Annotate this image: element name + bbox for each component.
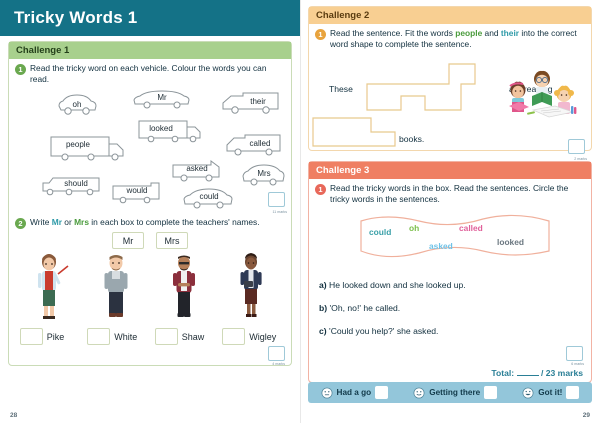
checkbox-getting-there[interactable] (484, 386, 497, 399)
challenge-1-question-1: 1 Read the tricky word on each vehicle. … (9, 59, 291, 85)
teacher-figure-shaw (155, 250, 213, 327)
sentence-a: a) He looked down and she looked up. (309, 280, 591, 290)
option-box-mrs[interactable]: Mrs (156, 232, 188, 249)
worksheet-spread: Tricky Words 1 Challenge 1 1 Read the tr… (0, 0, 600, 423)
answer-box-white[interactable] (87, 328, 110, 345)
page-number-right: 29 (583, 412, 590, 419)
vehicle-mrs[interactable]: Mrs (239, 163, 289, 189)
sentence-c: c) 'Could you help?' she asked. (309, 326, 591, 336)
marks-box-c2[interactable] (568, 139, 585, 154)
c2-word-people: people (455, 28, 482, 38)
sentence-a-text[interactable]: He looked down and she looked up. (329, 280, 466, 290)
total-label: Total: (491, 368, 514, 378)
teacher-figure-wigley (222, 250, 280, 327)
vehicle-called[interactable]: called (225, 133, 283, 159)
question-1-text: Read the tricky word on each vehicle. Co… (30, 63, 285, 85)
sentence-c-text[interactable]: 'Could you help?' she asked. (329, 326, 438, 336)
challenge-3-card: Challenge 3 1 Read the tricky words in t… (308, 161, 592, 383)
answer-box-shaw[interactable] (155, 328, 178, 345)
word-bank-could: could (369, 227, 391, 237)
c2-word-their: their (501, 28, 519, 38)
question-number-badge: 1 (315, 184, 326, 195)
self-assessment-had-a-go[interactable]: Had a go (321, 386, 389, 399)
page-title: Tricky Words 1 (14, 8, 137, 28)
teacher-name-pike: Pike (47, 332, 65, 342)
sentence-b: b) 'Oh, no!' he called. (309, 303, 591, 313)
checkbox-had-a-go[interactable] (375, 386, 388, 399)
vehicle-people[interactable]: people (49, 135, 127, 163)
marks-caption-q2: 4 marks (272, 362, 285, 366)
challenge-1-card: Challenge 1 1 Read the tricky word on ea… (8, 41, 292, 366)
happy-face-icon (522, 387, 534, 399)
word-shape-their[interactable] (311, 110, 431, 150)
foot-label-getting-there: Getting there (429, 388, 480, 397)
vehicle-would[interactable]: would (111, 181, 163, 207)
neutral-face-icon (321, 387, 333, 399)
teacher-name-wigley: Wigley (249, 332, 276, 342)
vehicle-mr[interactable]: Mr (131, 89, 193, 111)
sentence-b-text[interactable]: 'Oh, no!' he called. (330, 303, 401, 313)
challenge-1-band: Challenge 1 (9, 42, 291, 59)
right-page: Challenge 2 1 Read the sentence. Fit the… (300, 0, 600, 423)
children-reading-illustration (503, 66, 581, 129)
sentence-word-these: These (329, 84, 353, 94)
q2-word-mrs: Mrs (74, 217, 89, 227)
foot-label-had-a-go: Had a go (337, 388, 372, 397)
teacher-name-cell-shaw: Shaw (155, 328, 213, 345)
vehicle-word-area: oh Mr (11, 87, 289, 205)
challenge-2-question-text: Read the sentence. Fit the words people … (330, 28, 585, 50)
page-number-left: 28 (10, 412, 17, 419)
answer-box-pike[interactable] (20, 328, 43, 345)
checkbox-got-it[interactable] (566, 386, 579, 399)
challenge-2-band: Challenge 2 (309, 7, 591, 24)
teacher-name-cell-white: White (87, 328, 145, 345)
teacher-figure-white (87, 250, 145, 327)
word-bank-looked: looked (497, 237, 524, 247)
sentence-c-label: c) (319, 326, 327, 336)
teacher-illustrations (9, 250, 291, 327)
vehicle-asked[interactable]: asked (171, 159, 223, 185)
c2-text-part2: and (482, 28, 501, 38)
total-blank[interactable] (517, 375, 539, 376)
total-suffix: / 23 marks (541, 368, 583, 378)
sentence-b-label: b) (319, 303, 327, 313)
vehicle-could[interactable]: could (181, 187, 237, 213)
q2-text-part3: in each box to complete the teachers' na… (89, 217, 260, 227)
answer-box-wigley[interactable] (222, 328, 245, 345)
challenge-2-question-1: 1 Read the sentence. Fit the words peopl… (309, 24, 591, 50)
challenge-1-question-2: 2 Write Mr or Mrs in each box to complet… (9, 213, 291, 229)
sentence-word-books: books. (399, 134, 424, 144)
page-title-bar: Tricky Words 1 (0, 0, 300, 36)
question-number-badge: 2 (15, 218, 26, 229)
foot-label-got-it: Got it! (538, 388, 562, 397)
option-box-mr[interactable]: Mr (112, 232, 144, 249)
teacher-name-white: White (114, 332, 137, 342)
page-gutter (300, 0, 301, 423)
question-number-badge: 1 (15, 64, 26, 75)
word-shape-area: These are reading books. (309, 52, 591, 150)
vehicle-oh[interactable]: oh (53, 93, 101, 117)
challenge-3-question-1: 1 Read the tricky words in the box. Read… (309, 179, 591, 205)
q2-text-part2: or (62, 217, 74, 227)
teacher-figure-pike (20, 250, 78, 327)
question-number-badge: 1 (315, 29, 326, 40)
total-line: Total: / 23 marks (309, 368, 591, 382)
marks-box-q1[interactable] (268, 192, 285, 207)
challenge-3-question-text: Read the tricky words in the box. Read t… (330, 183, 585, 205)
marks-caption-q1: 11 marks (272, 210, 287, 214)
challenge-2-card: Challenge 2 1 Read the sentence. Fit the… (308, 6, 592, 151)
challenge-3-band: Challenge 3 (309, 162, 591, 179)
vehicle-looked[interactable]: looked (137, 119, 203, 145)
word-bank-called: called (459, 223, 483, 233)
option-box-row: Mr Mrs (9, 232, 291, 249)
slight-smile-face-icon (413, 387, 425, 399)
c2-text-part1: Read the sentence. Fit the words (330, 28, 455, 38)
sentence-a-label: a) (319, 280, 327, 290)
left-page: Tricky Words 1 Challenge 1 1 Read the tr… (0, 0, 300, 423)
self-assessment-bar: Had a go Getting there (308, 382, 592, 403)
vehicle-should[interactable]: should (41, 173, 103, 199)
teacher-name-row: Pike White Shaw Wigley (9, 328, 291, 345)
tricky-word-bank: could oh called asked looked (309, 209, 591, 267)
marks-box-q2[interactable] (268, 346, 285, 361)
teacher-name-cell-wigley: Wigley (222, 328, 280, 345)
teacher-name-cell-pike: Pike (20, 328, 78, 345)
word-bank-asked: asked (429, 241, 453, 251)
question-2-text: Write Mr or Mrs in each box to complete … (30, 217, 260, 229)
q2-word-mr: Mr (52, 217, 62, 227)
self-assessment-getting-there[interactable]: Getting there (413, 386, 497, 399)
vehicle-their[interactable]: their (221, 91, 281, 117)
q2-text-part1: Write (30, 217, 52, 227)
teacher-name-shaw: Shaw (182, 332, 205, 342)
marks-box-c3[interactable] (566, 346, 583, 361)
marks-caption-c3: 6 marks (571, 362, 584, 366)
word-bank-oh: oh (409, 223, 419, 233)
self-assessment-got-it[interactable]: Got it! (522, 386, 579, 399)
